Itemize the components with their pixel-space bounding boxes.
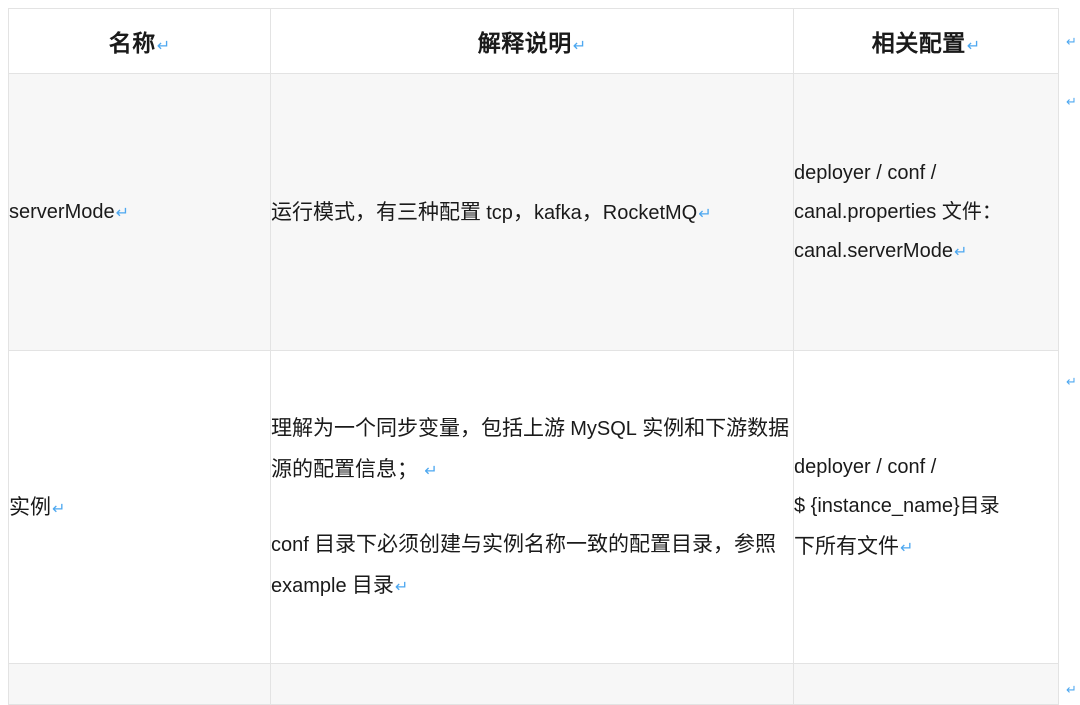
column-header-name: 名称↵ bbox=[9, 9, 271, 74]
column-header-name-label: 名称 bbox=[109, 31, 156, 56]
config-line: $ {instance_name}目录 bbox=[794, 487, 1058, 526]
table-row bbox=[9, 664, 1059, 705]
config-line: deployer / conf / bbox=[794, 448, 1058, 487]
description-paragraph: conf 目录下必须创建与实例名称一致的配置目录，参照 example 目录↵ bbox=[271, 524, 793, 606]
row-name-text: serverMode↵ bbox=[9, 194, 270, 231]
table-row: 实例↵ 理解为一个同步变量，包括上游 MySQL 实例和下游数据源的配置信息； … bbox=[9, 351, 1059, 664]
desc-seg-comma: ， bbox=[513, 200, 534, 224]
return-mark-icon: ↵ bbox=[1066, 36, 1077, 49]
document-page: 名称↵ 解释说明↵ 相关配置↵ serverMode↵ 运行模式，有三种配置 t… bbox=[0, 0, 1080, 700]
return-mark-icon: ↵ bbox=[572, 36, 586, 55]
return-mark-icon: ↵ bbox=[1066, 684, 1077, 697]
column-header-description: 解释说明↵ bbox=[271, 9, 794, 74]
desc-seg-rocketmq: RocketMQ bbox=[603, 202, 697, 224]
table-header-row: 名称↵ 解释说明↵ 相关配置↵ bbox=[9, 9, 1059, 74]
return-mark-icon: ↵ bbox=[394, 577, 408, 596]
desc-seg-kafka: kafka bbox=[534, 202, 582, 224]
return-mark-icon: ↵ bbox=[899, 538, 913, 557]
column-header-config-label: 相关配置 bbox=[872, 31, 966, 56]
row-name-cell bbox=[9, 664, 271, 705]
config-line: canal.properties 文件： bbox=[794, 193, 1058, 232]
return-mark-icon: ↵ bbox=[966, 36, 980, 55]
return-mark-icon: ↵ bbox=[115, 203, 129, 222]
column-header-description-label: 解释说明 bbox=[478, 31, 572, 56]
desc-seg-example: example bbox=[271, 575, 347, 597]
row-name-cell: serverMode↵ bbox=[9, 74, 271, 351]
desc-seg-mysql: MySQL bbox=[570, 418, 637, 440]
desc-seg-han: 目录下必须创建与实例名称一致的配置目录，参照 bbox=[309, 532, 776, 556]
row-name-text: 实例↵ bbox=[9, 487, 270, 528]
desc-seg-conf: conf bbox=[271, 534, 309, 556]
table-row: serverMode↵ 运行模式，有三种配置 tcp，kafka，RocketM… bbox=[9, 74, 1059, 351]
column-header-config: 相关配置↵ bbox=[794, 9, 1059, 74]
description-paragraph: 理解为一个同步变量，包括上游 MySQL 实例和下游数据源的配置信息； ↵ bbox=[271, 408, 793, 490]
config-line: deployer / conf / bbox=[794, 154, 1058, 193]
desc-seg-han: 运行模式，有三种配置 bbox=[271, 200, 486, 224]
config-path-block: deployer / conf / canal.properties 文件： c… bbox=[794, 154, 1058, 271]
return-mark-icon: ↵ bbox=[697, 204, 711, 223]
margin-return-marks: ↵ ↵ ↵ ↵ bbox=[1066, 0, 1080, 700]
desc-seg-han: 目录 bbox=[347, 573, 394, 597]
return-mark-icon: ↵ bbox=[1066, 376, 1077, 389]
desc-seg-comma: ， bbox=[582, 200, 603, 224]
desc-seg-han: 理解为一个同步变量，包括上游 bbox=[271, 416, 570, 440]
row-config-cell: deployer / conf / canal.properties 文件： c… bbox=[794, 74, 1059, 351]
row-name-cell: 实例↵ bbox=[9, 351, 271, 664]
row-description-cell: 理解为一个同步变量，包括上游 MySQL 实例和下游数据源的配置信息； ↵ co… bbox=[271, 351, 794, 664]
return-mark-icon: ↵ bbox=[51, 499, 65, 518]
return-mark-icon: ↵ bbox=[953, 242, 967, 261]
row-config-cell: deployer / conf / $ {instance_name}目录 下所… bbox=[794, 351, 1059, 664]
return-mark-icon: ↵ bbox=[156, 36, 170, 55]
return-mark-icon: ↵ bbox=[423, 461, 437, 480]
description-paragraph: 运行模式，有三种配置 tcp，kafka，RocketMQ↵ bbox=[271, 192, 793, 233]
configuration-table: 名称↵ 解释说明↵ 相关配置↵ serverMode↵ 运行模式，有三种配置 t… bbox=[8, 8, 1059, 705]
row-description-cell: 运行模式，有三种配置 tcp，kafka，RocketMQ↵ bbox=[271, 74, 794, 351]
return-mark-icon: ↵ bbox=[1066, 96, 1077, 109]
desc-seg-tcp: tcp bbox=[486, 202, 513, 224]
config-line: canal.serverMode↵ bbox=[794, 232, 1058, 271]
config-line: 下所有文件↵ bbox=[794, 526, 1058, 567]
row-description-cell bbox=[271, 664, 794, 705]
config-path-block: deployer / conf / $ {instance_name}目录 下所… bbox=[794, 448, 1058, 567]
row-config-cell bbox=[794, 664, 1059, 705]
